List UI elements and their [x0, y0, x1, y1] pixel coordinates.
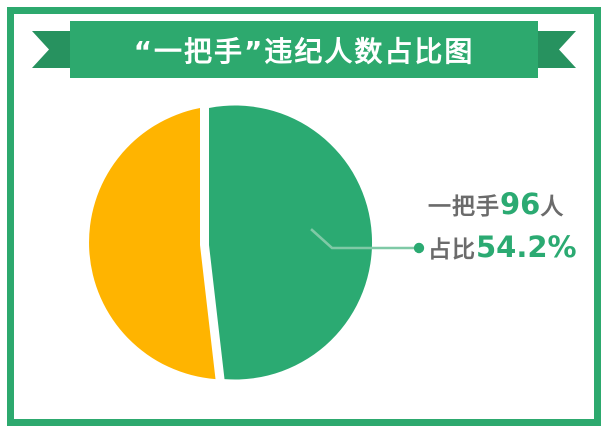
- callout-percent-number: 54.2%: [476, 230, 577, 264]
- poster-canvas: “一把手”违纪人数占比图 一把手96人 占比54.2%: [0, 0, 608, 433]
- callout-line-count: 一把手96人: [428, 190, 577, 219]
- pie-slice-other: [89, 108, 215, 379]
- pie-slice-yibashou: [209, 106, 372, 380]
- callout-leader-dot: [414, 243, 424, 253]
- callout-count-suffix: 人: [540, 194, 564, 220]
- callout-percent-prefix: 占比: [428, 237, 476, 263]
- callout-line-percent: 占比54.2%: [428, 233, 577, 262]
- callout-label: 一把手96人 占比54.2%: [428, 190, 577, 262]
- callout-count-prefix: 一把手: [428, 194, 500, 220]
- callout-count-number: 96: [500, 187, 540, 221]
